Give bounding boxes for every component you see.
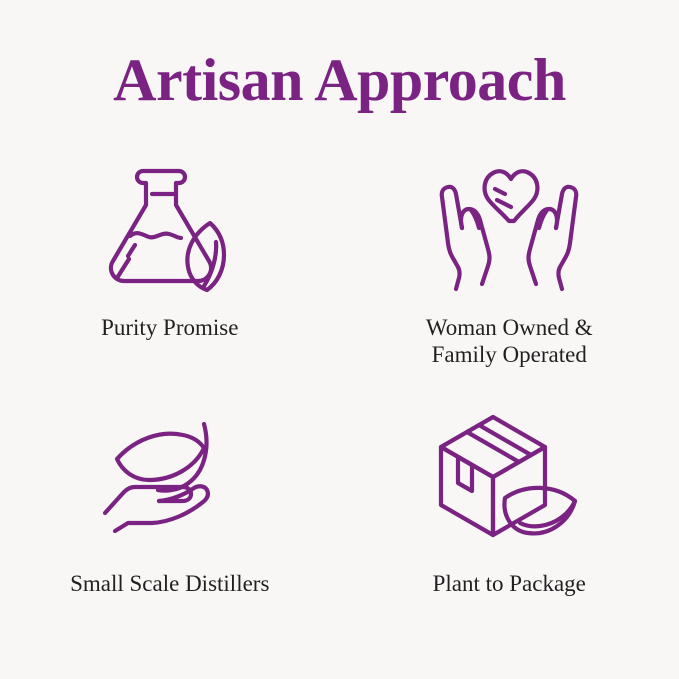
feature-label: Plant to Package [433,570,586,597]
feature-item-small-scale-distillers: Small Scale Distillers [0,400,340,650]
feature-grid: Purity Promise [0,150,679,650]
artisan-approach-panel: Artisan Approach [0,0,679,679]
feature-label: Woman Owned & Family Operated [426,314,593,368]
feature-item-purity-promise: Purity Promise [0,150,340,400]
page-title: Artisan Approach [0,45,679,115]
box-leaf-icon [429,412,589,542]
feature-label: Purity Promise [101,314,238,341]
hand-leaf-icon [90,412,250,542]
feature-item-woman-owned: Woman Owned & Family Operated [340,150,679,400]
feature-item-plant-to-package: Plant to Package [340,400,679,650]
hands-heart-icon [429,162,589,292]
feature-label: Small Scale Distillers [70,570,269,597]
flask-leaf-icon [90,162,250,292]
